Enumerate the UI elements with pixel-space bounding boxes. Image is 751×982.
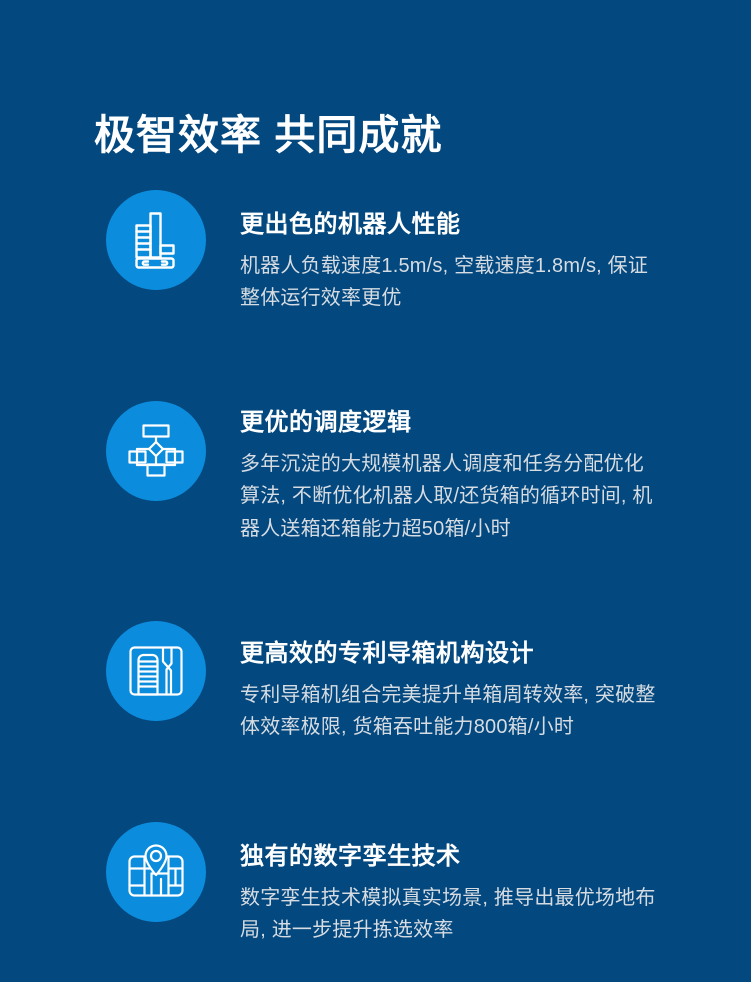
feature-text: 更出色的机器人性能 机器人负载速度1.5m/s, 空载速度1.8m/s, 保证整… [240,190,660,315]
feature-item-digital-twin: 独有的数字孪生技术 数字孪生技术模拟真实场景, 推导出最优场地布局, 进一步提升… [0,822,751,947]
feature-text: 独有的数字孪生技术 数字孪生技术模拟真实场景, 推导出最优场地布局, 进一步提升… [240,822,660,947]
feature-description: 机器人负载速度1.5m/s, 空载速度1.8m/s, 保证整体运行效率更优 [240,250,660,315]
page-title: 极智效率 共同成就 [94,111,442,160]
feature-heading: 独有的数字孪生技术 [240,842,660,872]
feature-item-robot-performance: 更出色的机器人性能 机器人负载速度1.5m/s, 空载速度1.8m/s, 保证整… [0,190,751,315]
feature-heading: 更出色的机器人性能 [240,210,660,240]
feature-description: 多年沉淀的大规模机器人调度和任务分配优化算法, 不断优化机器人取/还货箱的循环时… [240,448,660,545]
map-pin-digital-twin-icon [106,822,206,922]
feature-list: 更出色的机器人性能 机器人负载速度1.5m/s, 空载速度1.8m/s, 保证整… [0,190,751,947]
feature-text: 更优的调度逻辑 多年沉淀的大规模机器人调度和任务分配优化算法, 不断优化机器人取… [240,388,660,545]
feature-description: 数字孪生技术模拟真实场景, 推导出最优场地布局, 进一步提升拣选效率 [240,882,660,947]
feature-text: 更高效的专利导箱机构设计 专利导箱机组合完美提升单箱周转效率, 突破整体效率极限… [240,619,660,744]
promo-page: 极智效率 共同成就 [0,0,751,982]
feature-heading: 更高效的专利导箱机构设计 [240,639,660,669]
feature-description: 专利导箱机组合完美提升单箱周转效率, 突破整体效率极限, 货箱吞吐能力800箱/… [240,679,660,744]
flowchart-scheduling-icon [106,401,206,501]
feature-heading: 更优的调度逻辑 [240,408,660,438]
feature-item-box-guide-design: 更高效的专利导箱机构设计 专利导箱机组合完美提升单箱周转效率, 突破整体效率极限… [0,619,751,744]
robot-lift-icon [106,190,206,290]
box-guide-mechanism-icon [106,621,206,721]
feature-item-scheduling-logic: 更优的调度逻辑 多年沉淀的大规模机器人调度和任务分配优化算法, 不断优化机器人取… [0,388,751,545]
